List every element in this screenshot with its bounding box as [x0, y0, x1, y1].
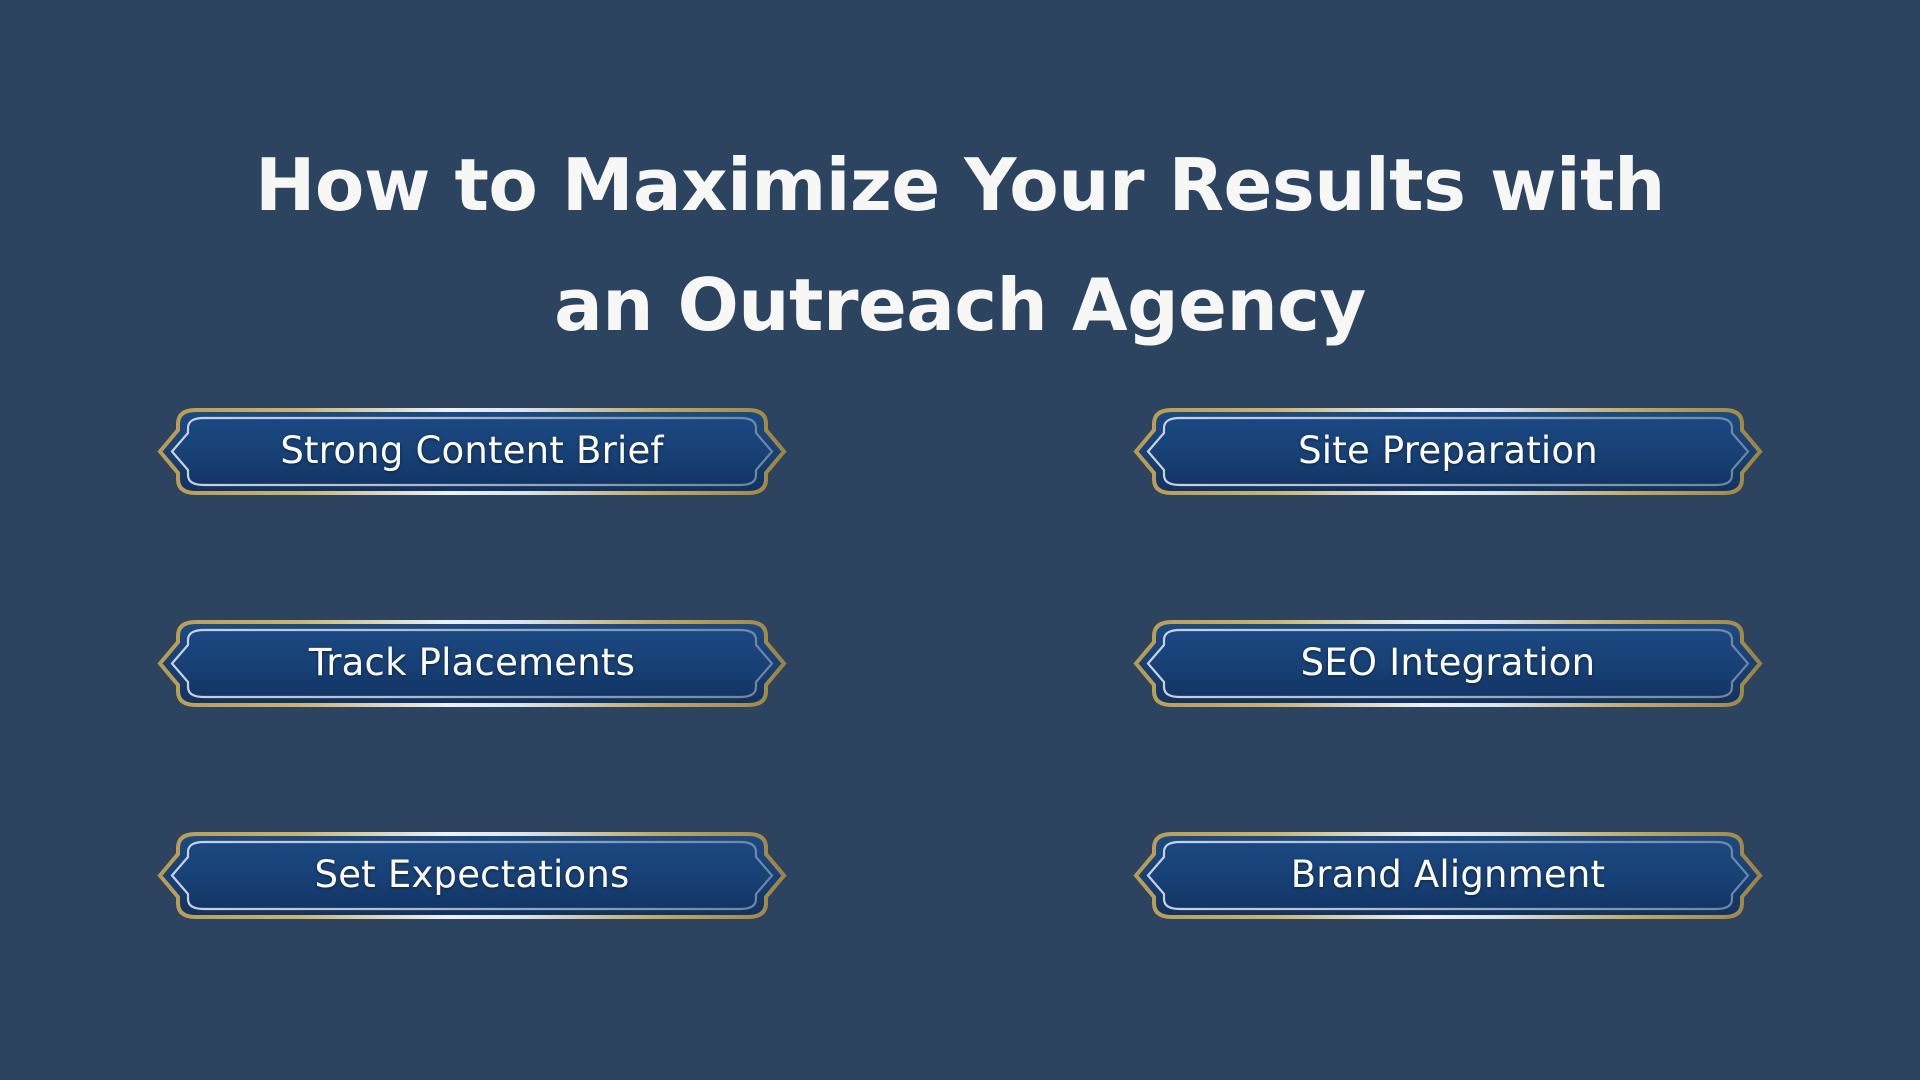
ribbon-button-label: Track Placements [152, 616, 792, 711]
ribbon-button-set-expectations[interactable]: Set Expectations [152, 828, 792, 923]
page-title: How to Maximize Your Results with an Out… [0, 125, 1920, 365]
ribbon-button-strong-content-brief[interactable]: Strong Content Brief [152, 404, 792, 499]
button-cell: Site Preparation [1128, 404, 1768, 499]
slide-canvas: { "theme": { "background_color": "#2c446… [0, 0, 1920, 1080]
ribbon-button-site-preparation[interactable]: Site Preparation [1128, 404, 1768, 499]
ribbon-button-seo-integration[interactable]: SEO Integration [1128, 616, 1768, 711]
button-cell: Brand Alignment [1128, 828, 1768, 923]
button-row: Set Expectations Brand Alignment [0, 828, 1920, 1040]
ribbon-button-label: Strong Content Brief [152, 404, 792, 499]
button-cell: Track Placements [152, 616, 792, 711]
ribbon-button-track-placements[interactable]: Track Placements [152, 616, 792, 711]
button-row: Track Placements SEO Integration [0, 616, 1920, 828]
button-row: Strong Content Brief Site Preparation [0, 404, 1920, 616]
ribbon-button-brand-alignment[interactable]: Brand Alignment [1128, 828, 1768, 923]
button-cell: Strong Content Brief [152, 404, 792, 499]
button-cell: SEO Integration [1128, 616, 1768, 711]
button-cell: Set Expectations [152, 828, 792, 923]
page-title-line-1: How to Maximize Your Results with [0, 125, 1920, 245]
ribbon-button-label: Set Expectations [152, 828, 792, 923]
ribbon-button-label: Site Preparation [1128, 404, 1768, 499]
button-grid: Strong Content Brief Site Preparation Tr… [0, 404, 1920, 1040]
page-title-line-2: an Outreach Agency [0, 245, 1920, 365]
ribbon-button-label: SEO Integration [1128, 616, 1768, 711]
ribbon-button-label: Brand Alignment [1128, 828, 1768, 923]
